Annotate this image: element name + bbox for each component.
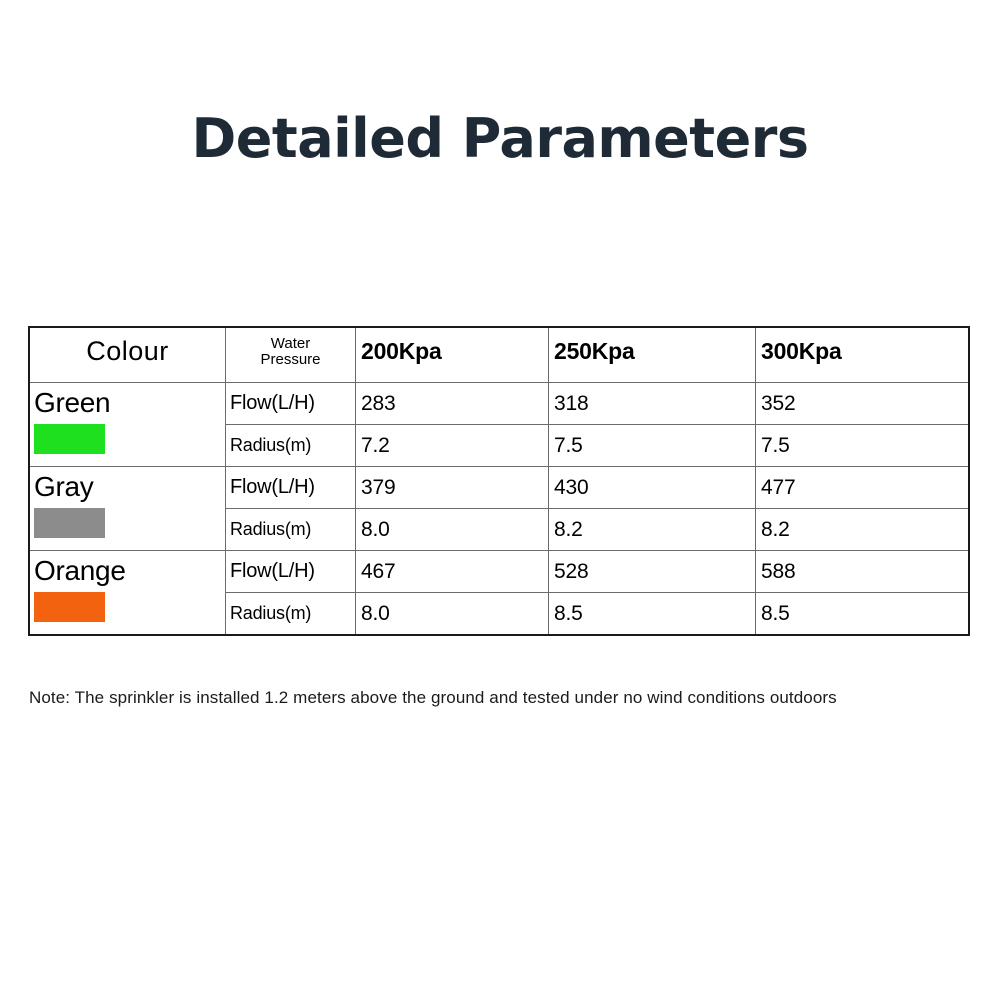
table-header-row: Colour Water Pressure 200Kpa 250Kpa 300K…: [30, 328, 969, 383]
header-300kpa: 300Kpa: [756, 328, 969, 383]
cell-gray-radius-300: 8.2: [756, 509, 969, 551]
header-water-pressure: Water Pressure: [226, 328, 356, 383]
colour-name-green: Green: [30, 383, 225, 417]
cell-gray-radius-250: 8.2: [549, 509, 756, 551]
header-water-pressure-line2: Pressure: [226, 352, 355, 368]
cell-orange-radius-250: 8.5: [549, 593, 756, 635]
cell-green-radius-300: 7.5: [756, 425, 969, 467]
page-title: Detailed Parameters: [0, 112, 1000, 166]
colour-cell-gray: Gray: [30, 467, 226, 551]
header-250kpa: 250Kpa: [549, 328, 756, 383]
cell-green-flow-250: 318: [549, 383, 756, 425]
colour-cell-green: Green: [30, 383, 226, 467]
table-row: Gray Flow(L/H) 379 430 477: [30, 467, 969, 509]
metric-label-radius: Radius(m): [226, 593, 356, 635]
metric-label-radius: Radius(m): [226, 425, 356, 467]
cell-green-radius-200: 7.2: [356, 425, 549, 467]
cell-gray-radius-200: 8.0: [356, 509, 549, 551]
cell-green-flow-300: 352: [756, 383, 969, 425]
header-water-pressure-line1: Water: [226, 336, 355, 352]
header-200kpa: 200Kpa: [356, 328, 549, 383]
cell-orange-flow-250: 528: [549, 551, 756, 593]
colour-name-orange: Orange: [30, 551, 225, 585]
cell-gray-flow-300: 477: [756, 467, 969, 509]
parameters-table: Colour Water Pressure 200Kpa 250Kpa 300K…: [29, 327, 969, 635]
colour-swatch-gray: [34, 508, 105, 538]
table-row: Orange Flow(L/H) 467 528 588: [30, 551, 969, 593]
cell-gray-flow-250: 430: [549, 467, 756, 509]
cell-orange-flow-300: 588: [756, 551, 969, 593]
page-root: Detailed Parameters Colour Water Pressur…: [0, 0, 1000, 1000]
cell-orange-radius-300: 8.5: [756, 593, 969, 635]
header-colour: Colour: [30, 328, 226, 383]
cell-green-flow-200: 283: [356, 383, 549, 425]
cell-green-radius-250: 7.5: [549, 425, 756, 467]
metric-label-radius: Radius(m): [226, 509, 356, 551]
cell-orange-radius-200: 8.0: [356, 593, 549, 635]
metric-label-flow: Flow(L/H): [226, 383, 356, 425]
metric-label-flow: Flow(L/H): [226, 467, 356, 509]
colour-name-gray: Gray: [30, 467, 225, 501]
colour-cell-orange: Orange: [30, 551, 226, 635]
metric-label-flow: Flow(L/H): [226, 551, 356, 593]
parameters-table-container: Colour Water Pressure 200Kpa 250Kpa 300K…: [29, 327, 968, 635]
colour-swatch-green: [34, 424, 105, 454]
note-text: Note: The sprinkler is installed 1.2 met…: [29, 688, 837, 708]
table-row: Green Flow(L/H) 283 318 352: [30, 383, 969, 425]
colour-swatch-orange: [34, 592, 105, 622]
cell-gray-flow-200: 379: [356, 467, 549, 509]
cell-orange-flow-200: 467: [356, 551, 549, 593]
